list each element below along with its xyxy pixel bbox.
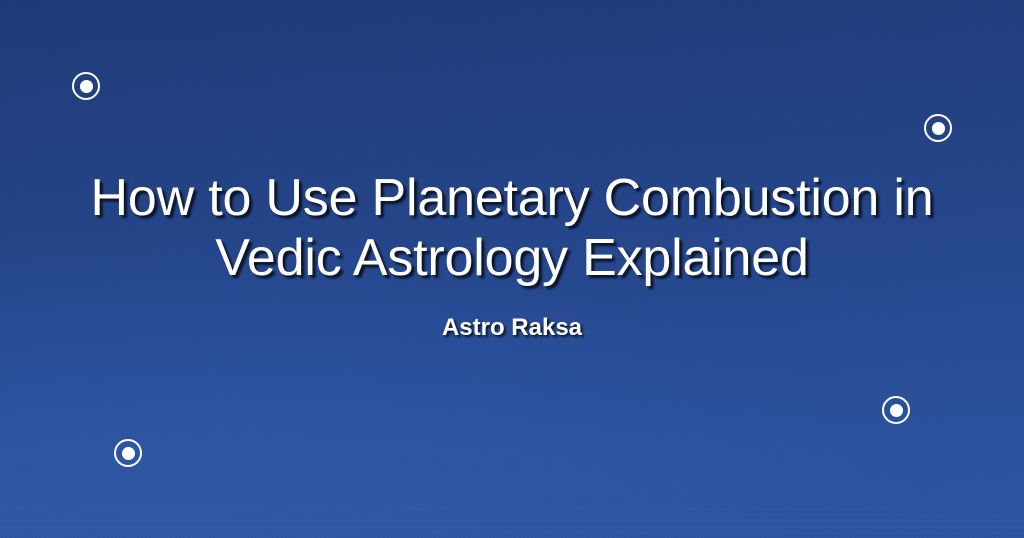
slide-content: How to Use Planetary Combustion in Vedic… xyxy=(0,0,1024,538)
slide-subtitle: Astro Raksa xyxy=(442,314,582,342)
slide-title: How to Use Planetary Combustion in Vedic… xyxy=(47,168,977,288)
title-slide: How to Use Planetary Combustion in Vedic… xyxy=(0,0,1024,538)
